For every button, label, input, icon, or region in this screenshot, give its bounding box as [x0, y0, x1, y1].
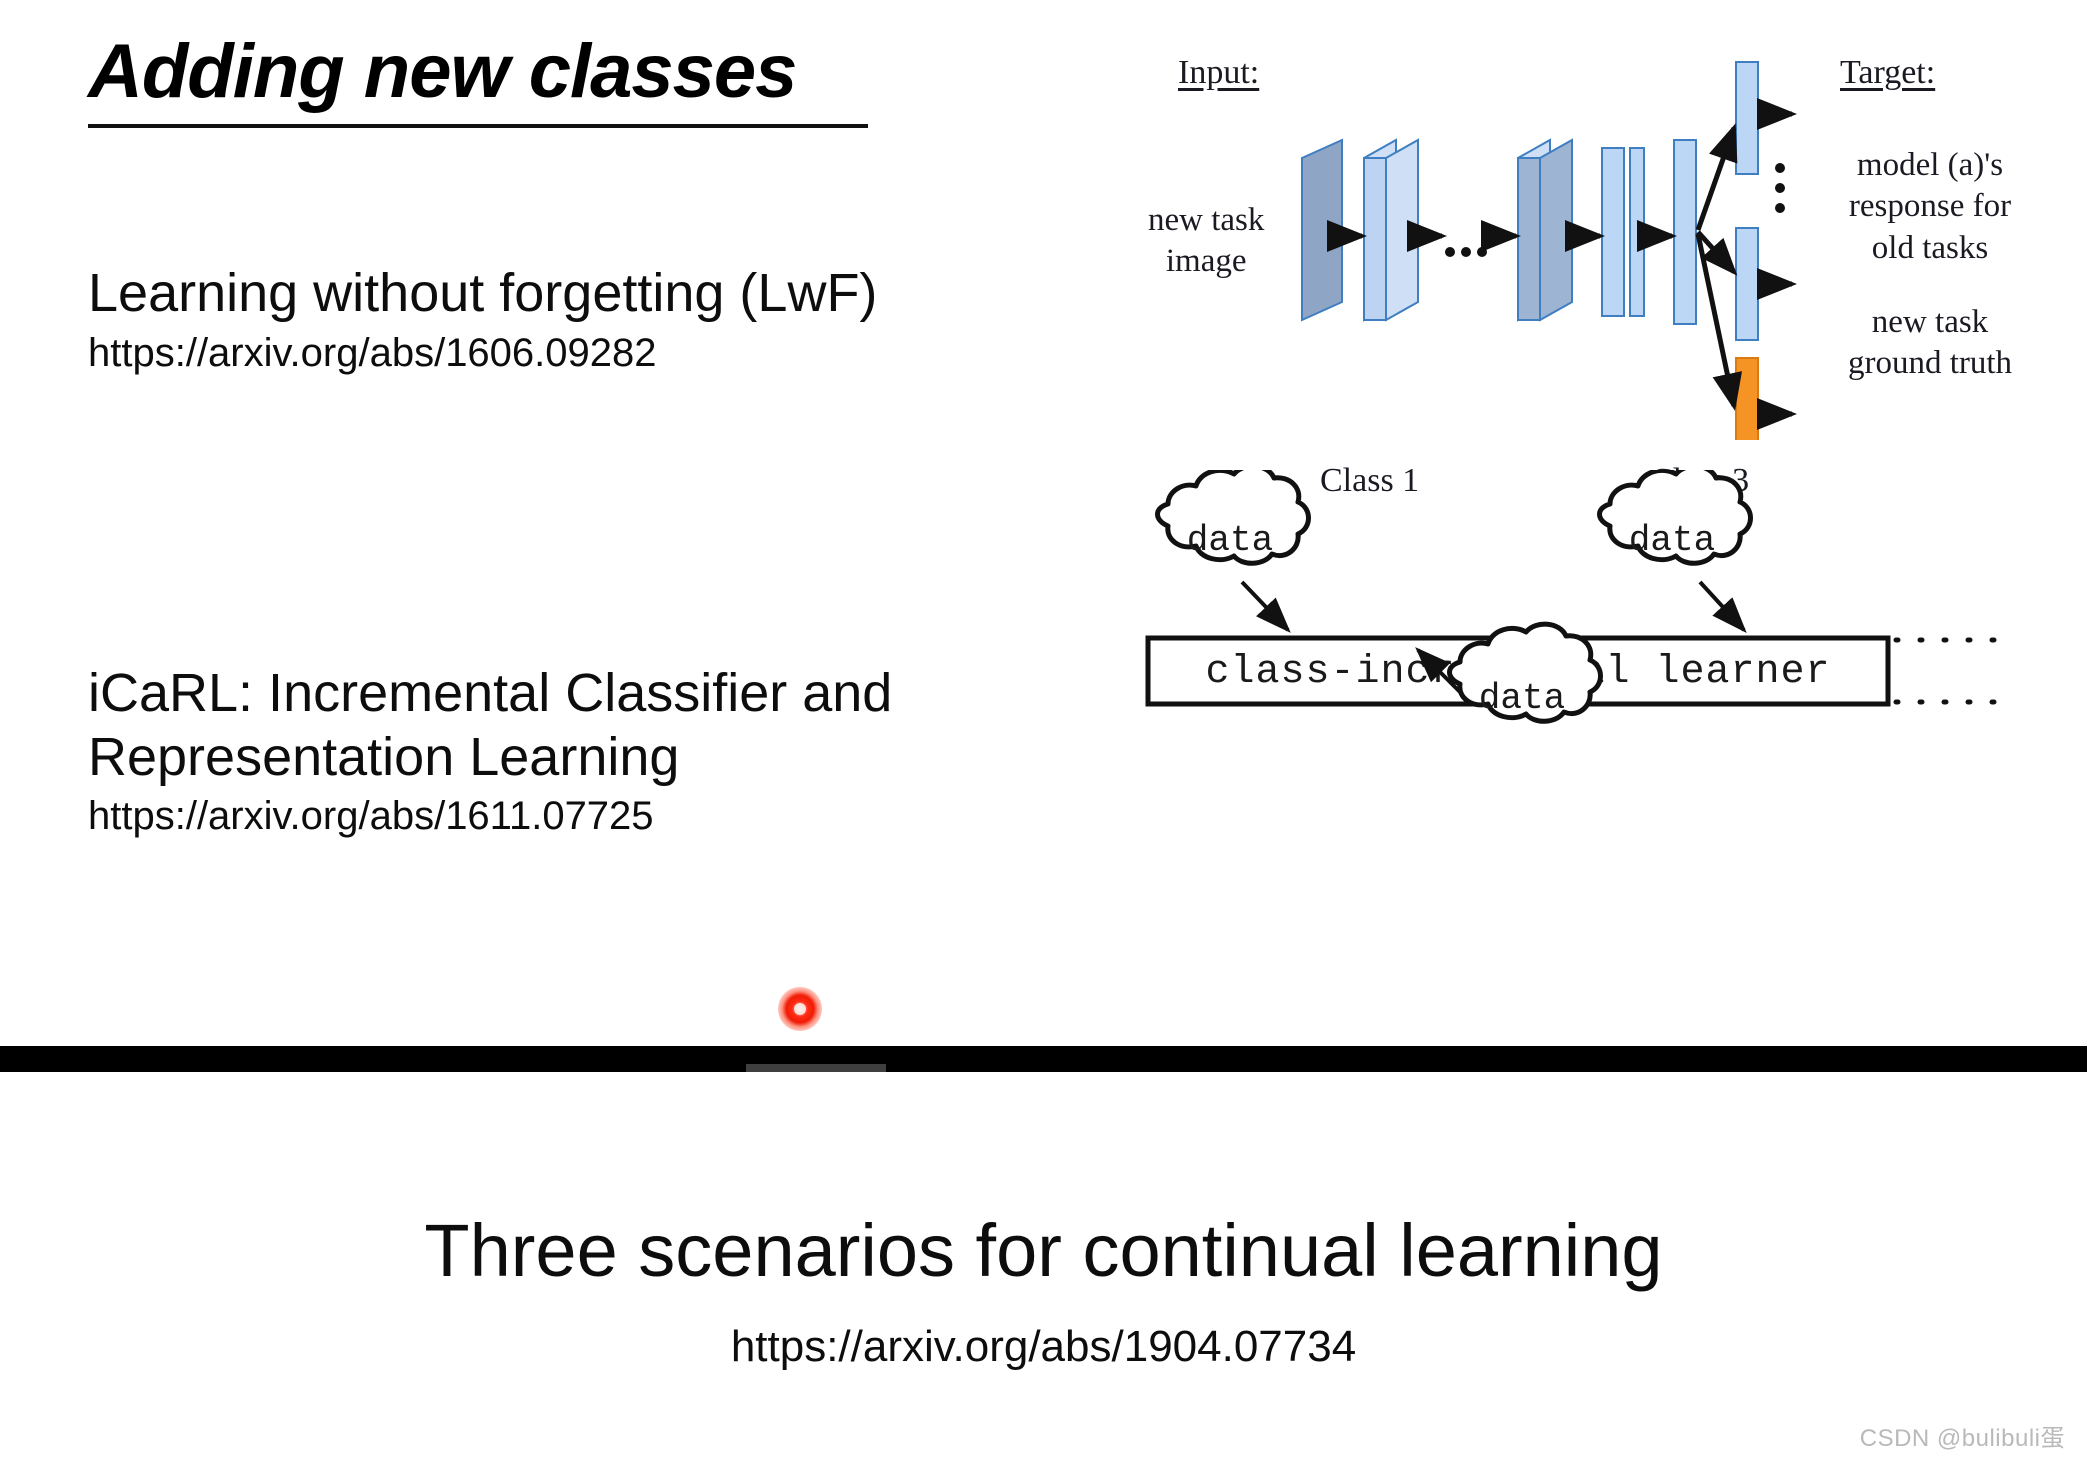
icarl-class-incremental-figure: Class 1 Class 3 Class 2 data [1130, 470, 2080, 740]
bottom-slide-title: Three scenarios for continual learning [0, 1212, 2087, 1290]
outputs-vertical-ellipsis-icon [1775, 163, 1785, 213]
learner-continuation-dots [1896, 640, 2010, 702]
reference-url-link[interactable]: https://arxiv.org/abs/1606.09282 [88, 328, 877, 378]
class-3-data-cloud: data [1600, 470, 1751, 563]
class-1-data-cloud: data [1158, 470, 1309, 563]
output-bar-old-task-top [1736, 62, 1758, 174]
output-bar-old-task-bottom [1736, 228, 1758, 340]
fc-layer-2 [1630, 148, 1644, 316]
fc-layer-3 [1674, 140, 1696, 324]
laser-pointer-core [794, 1003, 806, 1015]
top-slide: Adding new classes Learning without forg… [0, 0, 2087, 1050]
layers-ellipsis-icon [1445, 247, 1487, 257]
reference-item-icarl: iCaRL: Incremental Classifier and Repres… [88, 662, 892, 841]
reference-heading: Learning without forgetting (LwF) [88, 262, 877, 326]
svg-text:data: data [1187, 520, 1273, 561]
reference-heading: iCaRL: Incremental Classifier and Repres… [88, 662, 892, 789]
bottom-slide: Three scenarios for continual learning h… [0, 1072, 2087, 1467]
laser-pointer-dot [778, 987, 822, 1031]
svg-text:data: data [1629, 520, 1715, 561]
reference-item-lwf: Learning without forgetting (LwF) https:… [88, 262, 877, 378]
conv-layer-2 [1364, 140, 1418, 320]
slide-separator-bar [0, 1046, 2087, 1072]
conv-layer-1 [1302, 140, 1342, 320]
page-title: Adding new classes [88, 34, 868, 110]
fc-layer-1 [1602, 148, 1624, 316]
bottom-slide-url-link[interactable]: https://arxiv.org/abs/1904.07734 [0, 1322, 2087, 1372]
csdn-watermark: CSDN @bulibuli蛋 [1860, 1418, 2065, 1453]
svg-text:data: data [1479, 678, 1565, 719]
reference-url-link[interactable]: https://arxiv.org/abs/1611.07725 [88, 791, 892, 841]
incremental-learner-svg: data data class-incremental learner [1130, 470, 2080, 730]
conv-layer-3 [1518, 140, 1572, 320]
network-diagram-svg [1130, 40, 2080, 440]
title-underline-rule [88, 124, 868, 128]
lwf-architecture-figure: Input: Target: new task image model (a)'… [1130, 40, 2080, 440]
output-bar-new-task [1736, 358, 1758, 440]
page-title-block: Adding new classes [88, 34, 868, 128]
presentation-slide-capture: Adding new classes Learning without forg… [0, 0, 2087, 1467]
